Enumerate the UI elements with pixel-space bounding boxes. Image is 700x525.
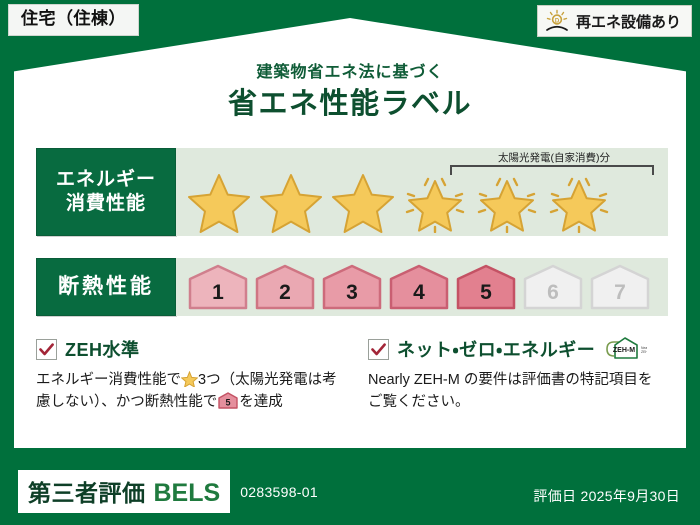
energy-row-body: 太陽光発電(自家消費)分: [176, 148, 668, 236]
energy-header-line2: 消費性能: [56, 192, 156, 216]
bels-energy-label: 住宅（住棟） D 再エネ設備あり 建築物省エネ法に基づく 省エネ性能ラベル: [0, 0, 700, 525]
insulation-performance-row: 断熱性能 1 2 3: [36, 258, 668, 316]
compliance-notes: ZEH水準 エネルギー消費性能で 3つ（太陽光発電は考慮しない）、かつ断熱性能で…: [36, 336, 668, 414]
zeh-body-part3: を達成: [239, 394, 283, 410]
star-filled: [328, 169, 398, 233]
zeh-note-header: ZEH水準: [36, 336, 338, 362]
zeh-note-body: エネルギー消費性能で 3つ（太陽光発電は考慮しない）、かつ断熱性能で 5 を達成: [36, 369, 338, 414]
zeh-note-title: ZEH水準: [65, 336, 140, 362]
insulation-badge-label: 7: [614, 282, 626, 310]
insulation-badge: 2: [253, 264, 317, 310]
insulation-badge-active: 5: [454, 264, 518, 310]
svg-text:5: 5: [226, 398, 231, 408]
bels-wordmark: BELS: [154, 479, 221, 508]
zeh-m-logo-icon: ZEH-M Nearly ZEH-M: [603, 336, 647, 362]
insulation-badge-label: 4: [413, 282, 425, 310]
label-content: 建築物省エネ法に基づく 省エネ性能ラベル エネルギー 消費性能 太陽光発電(自家…: [14, 18, 686, 448]
third-party-label: 第三者評価: [28, 474, 146, 508]
evaluation-date: 評価日 2025年9月30日: [533, 486, 680, 506]
star-filled: [256, 169, 326, 233]
insulation-badge: 4: [387, 264, 451, 310]
energy-performance-row: エネルギー 消費性能 太陽光発電(自家消費)分: [36, 148, 668, 236]
insulation-row-header: 断熱性能: [36, 258, 176, 316]
zeh-standard-note: ZEH水準 エネルギー消費性能で 3つ（太陽光発電は考慮しない）、かつ断熱性能で…: [36, 336, 352, 414]
star-filled: [184, 169, 254, 233]
renewable-equipment-badge: D 再エネ設備あり: [537, 5, 692, 37]
checkbox-checked-icon: [36, 339, 57, 360]
insulation-badge: 3: [320, 264, 384, 310]
insulation-level-scale: 1 2 3 4 5: [176, 264, 652, 310]
net-zero-energy-note: ネット・ゼロ・エネルギー ZEH-M Nearly ZEH-M Nearly Z…: [352, 336, 668, 414]
solar-sun-icon: D: [544, 9, 570, 33]
insulation-badge-label: 1: [212, 282, 224, 310]
svg-text:ZEH-M: ZEH-M: [641, 350, 647, 354]
label-subtitle: 建築物省エネ法に基づく: [14, 58, 686, 82]
nze-note-header: ネット・ゼロ・エネルギー ZEH-M Nearly ZEH-M: [368, 336, 654, 362]
svg-text:D: D: [555, 18, 560, 24]
insulation-badge-inactive: 7: [588, 264, 652, 310]
insulation-badge: 1: [186, 264, 250, 310]
insulation-badge-label: 2: [279, 282, 291, 310]
energy-row-header: エネルギー 消費性能: [36, 148, 176, 236]
svg-text:ZEH-M: ZEH-M: [613, 347, 635, 354]
page-title: 省エネ性能ラベル: [14, 80, 686, 122]
energy-header-line1: エネルギー: [56, 168, 156, 192]
nze-note-body: Nearly ZEH-M の要件は評価書の特記項目をご覧ください。: [368, 369, 654, 414]
bels-logo-box: 第三者評価 BELS: [18, 470, 230, 513]
certificate-number: 0283598-01: [240, 484, 318, 500]
inline-star-icon: [181, 371, 198, 387]
solar-generation-note: 太陽光発電(自家消費)分: [454, 150, 654, 165]
checkbox-checked-icon: [368, 339, 389, 360]
renewable-badge-label: 再エネ設備あり: [576, 11, 681, 32]
inline-insulation-badge-icon: 5: [217, 392, 239, 409]
star-solar: [544, 169, 614, 233]
insulation-row-body: 1 2 3 4 5: [176, 258, 668, 316]
insulation-badge-label: 6: [547, 282, 559, 310]
building-type-tab: 住宅（住棟）: [8, 4, 139, 36]
zeh-body-part1: エネルギー消費性能で: [36, 372, 181, 388]
insulation-badge-label: 5: [480, 282, 492, 310]
insulation-badge-label: 3: [346, 282, 358, 310]
bels-certification: 第三者評価 BELS 0283598-01: [18, 470, 318, 513]
star-solar: [472, 169, 542, 233]
star-solar: [400, 169, 470, 233]
nze-note-title: ネット・ゼロ・エネルギー: [397, 336, 595, 362]
insulation-badge-inactive: 6: [521, 264, 585, 310]
